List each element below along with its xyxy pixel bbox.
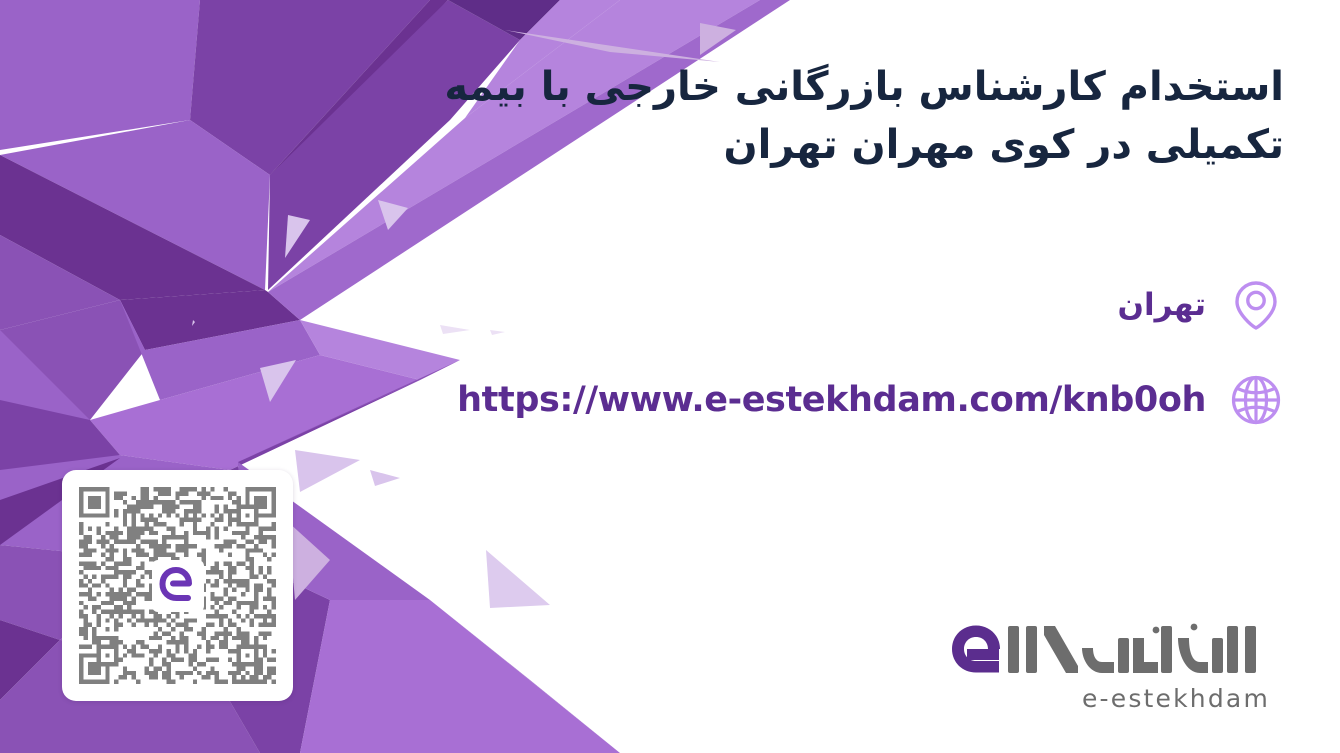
job-share-card: استخدام کارشناس بازرگانی خارجی با بیمه ت… xyxy=(0,0,1340,753)
qr-code[interactable] xyxy=(62,470,293,701)
qr-center-logo-icon xyxy=(152,560,204,612)
map-pin-icon xyxy=(1228,277,1284,333)
url-text[interactable]: https://www.e-estekhdam.com/knb0oh xyxy=(457,380,1206,420)
card-content: استخدام کارشناس بازرگانی خارجی با بیمه ت… xyxy=(0,0,1340,753)
location-row: تهران xyxy=(1118,277,1284,333)
brand-subtitle: e-estekhdam xyxy=(942,684,1272,713)
globe-icon xyxy=(1228,372,1284,428)
brand-wordmark-icon xyxy=(942,618,1272,680)
job-title: استخدام کارشناس بازرگانی خارجی با بیمه ت… xyxy=(424,58,1284,175)
location-label: تهران xyxy=(1118,290,1206,321)
url-row: https://www.e-estekhdam.com/knb0oh xyxy=(457,372,1284,428)
brand-logo: e-estekhdam xyxy=(942,618,1272,718)
